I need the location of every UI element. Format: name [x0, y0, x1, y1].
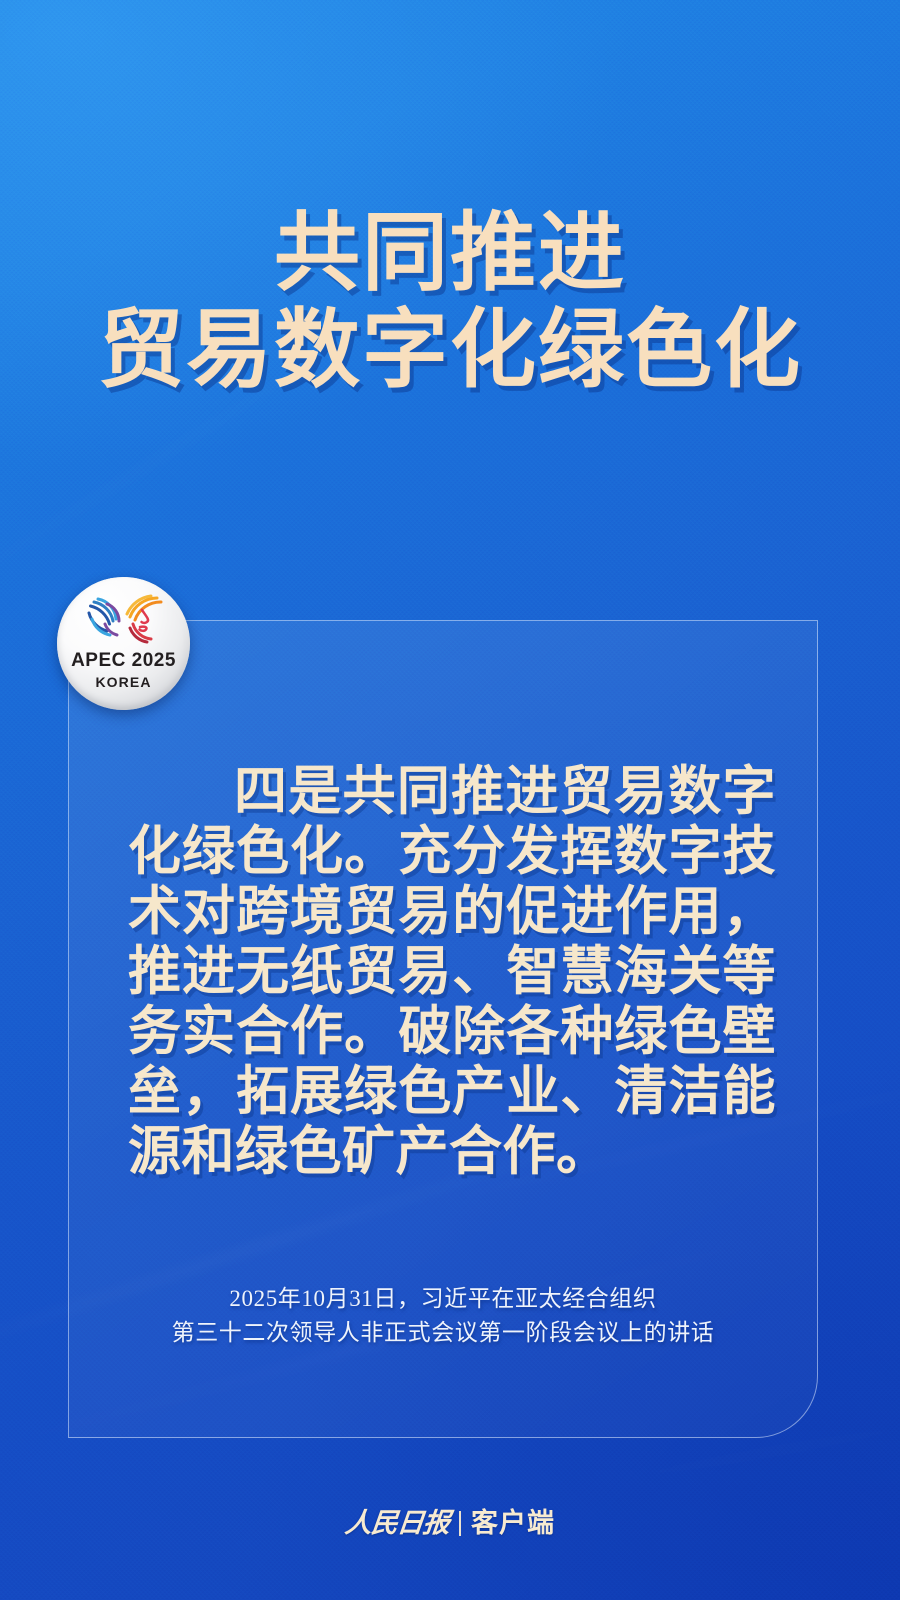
badge-country-label: KOREA [95, 675, 151, 689]
title-line-2: 贸易数字化绿色化 [0, 299, 900, 402]
product-name-label: 客户端 [471, 1510, 555, 1537]
apec-2025-korea-badge: APEC 2025 KOREA [57, 577, 190, 710]
source-caption: 2025年10月31日，习近平在亚太经合组织 第三十二次领导人非正式会议第一阶段… [68, 1282, 818, 1350]
title-line-1: 共同推进 [0, 208, 900, 299]
publisher-footer: 人民日报 客户端 [0, 1510, 900, 1537]
footer-divider [459, 1511, 461, 1536]
apec-emblem-icon [81, 593, 167, 645]
badge-apec-label: APEC 2025 [71, 651, 176, 670]
publisher-wordmark: 人民日报 [344, 1510, 451, 1537]
quote-body-text: 四是共同推进贸易数字化绿色化。充分发挥数字技术对跨境贸易的促进作用，推进无纸贸易… [128, 762, 776, 1182]
caption-line-2: 第三十二次领导人非正式会议第一阶段会议上的讲话 [68, 1316, 818, 1350]
caption-line-1: 2025年10月31日，习近平在亚太经合组织 [68, 1282, 818, 1316]
poster-canvas: 共同推进 贸易数字化绿色化 [0, 0, 900, 1600]
poster-title: 共同推进 贸易数字化绿色化 [0, 208, 900, 402]
